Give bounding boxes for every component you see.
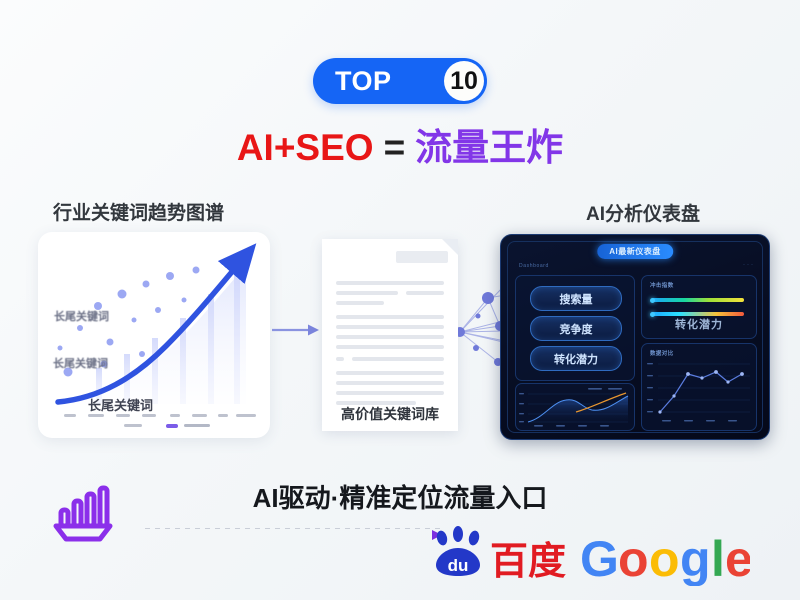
trend-label-1: 长尾关键词 [54, 308, 109, 324]
document-caption: 高价值关键词库 [322, 404, 458, 424]
footer-dashed-line [145, 528, 445, 529]
dashboard-header-pill: AI最新仪表盘 [597, 244, 673, 259]
badge-label: TOP [335, 68, 392, 95]
svg-text:G: G [580, 531, 619, 586]
headline-red: AI+SEO [237, 127, 374, 168]
headline-equals: = [384, 127, 406, 168]
metric-buttons-panel: 搜索量 竞争度 转化潜力 [515, 275, 635, 381]
dashboard-breadcrumb: Dashboard [519, 263, 549, 269]
gauge-bar-1 [652, 298, 744, 302]
headline-purple: 流量王炸 [415, 127, 563, 168]
trend-chart-graphic [38, 232, 270, 438]
badge-number-circle: 10 [444, 61, 484, 101]
left-section-title: 行业关键词趋势图谱 [53, 198, 224, 225]
infographic-canvas: TOP 10 AI+SEO=流量王炸 行业关键词趋势图谱 AI分析仪表盘 [0, 0, 800, 600]
keyword-trend-card: 长尾关键词 长尾关键词 长尾关键词 [38, 232, 270, 438]
doc-header-block [396, 251, 448, 263]
bar-chart-icon [48, 484, 118, 546]
gauge-panel: 冲击指数 转化潜力 [641, 275, 757, 339]
metric-button-search-volume[interactable]: 搜索量 [530, 286, 622, 311]
right-section-title: AI分析仪表盘 [586, 199, 700, 226]
google-wordmark: G o o g l e [580, 531, 750, 586]
top-rank-badge: TOP 10 [313, 58, 487, 104]
svg-text:o: o [649, 531, 680, 586]
flow-arrow-icon [272, 322, 320, 338]
trend-panel: 数据对比 [641, 343, 757, 431]
svg-text:e: e [725, 531, 750, 586]
gauge-marker-1 [650, 298, 655, 303]
baidu-mark-text: du [448, 556, 469, 575]
ai-dashboard-panel: AI最新仪表盘 Dashboard ··· 搜索量 竞争度 转化潜力 [500, 234, 770, 440]
trend-chart-graphic-dark [642, 344, 756, 430]
keyword-library-document: 高价值关键词库 [322, 239, 458, 431]
badge-number: 10 [450, 69, 478, 94]
trend-label-2: 长尾关键词 [53, 355, 108, 371]
baidu-wordmark: 百度 [490, 539, 566, 583]
trend-label-3: 长尾关键词 [88, 395, 153, 414]
search-engine-logos: du 百度 G o o g l e [420, 524, 750, 586]
area-chart-graphic [516, 384, 634, 430]
svg-text:o: o [618, 531, 649, 586]
gauge-panel-title: 冲击指数 [650, 281, 674, 289]
metric-button-conversion[interactable]: 转化潜力 [530, 346, 622, 371]
footer-tagline: AI驱动·精准定位流量入口 [0, 478, 800, 515]
svg-text:g: g [680, 531, 711, 586]
area-chart-panel [515, 383, 635, 431]
page-title: AI+SEO=流量王炸 [0, 127, 800, 170]
metric-button-competition[interactable]: 竞争度 [530, 316, 622, 341]
dashboard-menu-icon[interactable]: ··· [743, 262, 755, 268]
gauge-overlay-label: 转化潜力 [642, 316, 756, 332]
svg-text:l: l [711, 531, 725, 586]
